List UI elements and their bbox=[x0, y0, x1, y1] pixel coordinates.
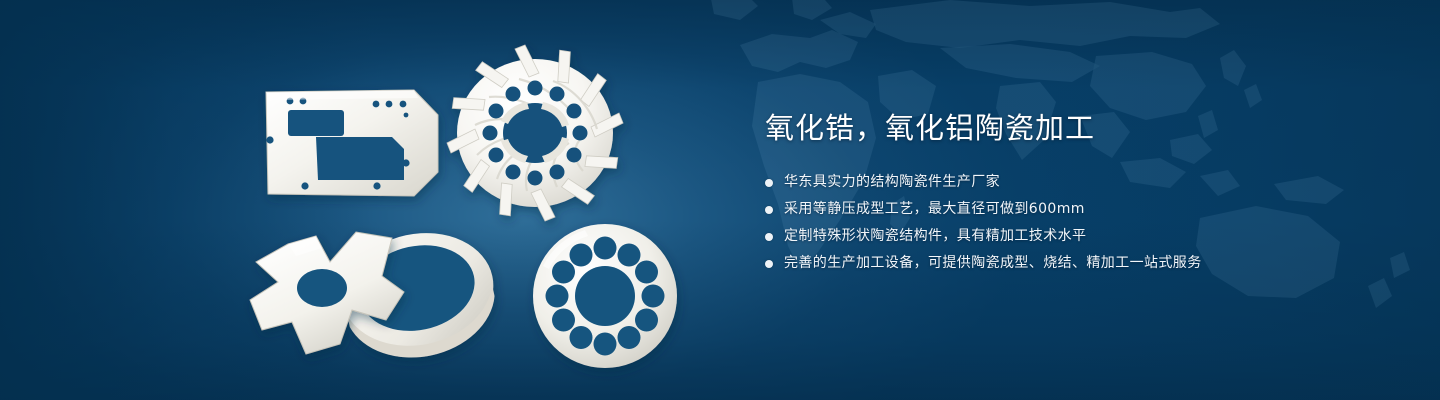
banner-copy: 氧化锆，氧化铝陶瓷加工 华东具实力的结构陶瓷件生产厂家 采用等静压成型工艺，最大… bbox=[765, 110, 1385, 280]
banner-headline: 氧化锆，氧化铝陶瓷加工 bbox=[765, 110, 1385, 146]
ceramic-plate-with-cutouts bbox=[266, 90, 438, 196]
feature-list: 华东具实力的结构陶瓷件生产厂家 采用等静压成型工艺，最大直径可做到600mm 定… bbox=[765, 172, 1385, 274]
ceramic-impeller-disc bbox=[447, 45, 623, 221]
bullet-dot-icon bbox=[765, 260, 773, 268]
feature-text: 采用等静压成型工艺，最大直径可做到600mm bbox=[784, 199, 1085, 220]
feature-text: 完善的生产加工设备，可提供陶瓷成型、烧结、精加工一站式服务 bbox=[784, 253, 1202, 274]
list-item: 完善的生产加工设备，可提供陶瓷成型、烧结、精加工一站式服务 bbox=[765, 253, 1385, 274]
bullet-dot-icon bbox=[765, 206, 773, 214]
bullet-dot-icon bbox=[765, 179, 773, 187]
list-item: 华东具实力的结构陶瓷件生产厂家 bbox=[765, 172, 1385, 193]
product-photo-group bbox=[0, 0, 740, 400]
list-item: 定制特殊形状陶瓷结构件，具有精加工技术水平 bbox=[765, 226, 1385, 247]
hero-banner: 氧化锆，氧化铝陶瓷加工 华东具实力的结构陶瓷件生产厂家 采用等静压成型工艺，最大… bbox=[0, 0, 1440, 400]
feature-text: 定制特殊形状陶瓷结构件，具有精加工技术水平 bbox=[784, 226, 1086, 247]
feature-text: 华东具实力的结构陶瓷件生产厂家 bbox=[784, 172, 1000, 193]
ceramic-perforated-disc bbox=[533, 224, 677, 368]
list-item: 采用等静压成型工艺，最大直径可做到600mm bbox=[765, 199, 1385, 220]
bullet-dot-icon bbox=[765, 233, 773, 241]
